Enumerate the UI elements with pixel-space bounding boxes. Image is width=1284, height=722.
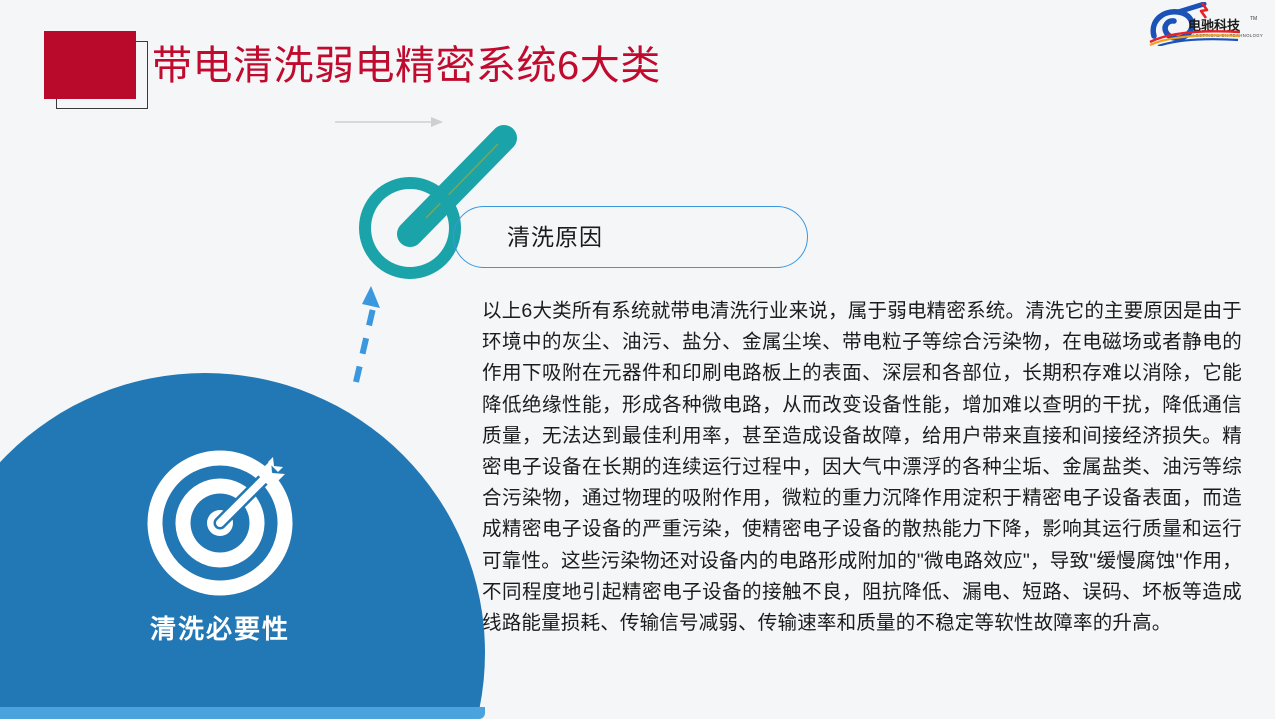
slide-right-gutter — [1275, 0, 1284, 722]
page-title: 带电清洗弱电精密系统6大类 — [152, 38, 661, 94]
title-accent-square — [44, 31, 136, 99]
necessity-panel-band — [0, 707, 485, 719]
body-text: 以上6大类所有系统就带电清洗行业来说，属于弱电精密系统。清洗它的主要原因是由于环… — [482, 296, 1242, 639]
necessity-panel-label: 清洗必要性 — [0, 612, 440, 646]
logo-mark-icon: 电驰科技 ELECTRICAL ON TECHNOLOGY TM — [1144, 2, 1268, 46]
target-dart-icon — [147, 450, 293, 596]
body-paragraph: 以上6大类所有系统就带电清洗行业来说，属于弱电精密系统。清洗它的主要原因是由于环… — [482, 296, 1242, 639]
company-logo: 电驰科技 ELECTRICAL ON TECHNOLOGY TM — [1144, 2, 1268, 46]
svg-text:TM: TM — [1250, 16, 1257, 22]
dashed-arrow-icon — [350, 278, 390, 388]
slide-canvas: 带电清洗弱电精密系统6大类 电驰科技 ELECTRICAL ON TECHNOL… — [0, 0, 1284, 722]
callout-pill-label: 清洗原因 — [507, 222, 603, 252]
